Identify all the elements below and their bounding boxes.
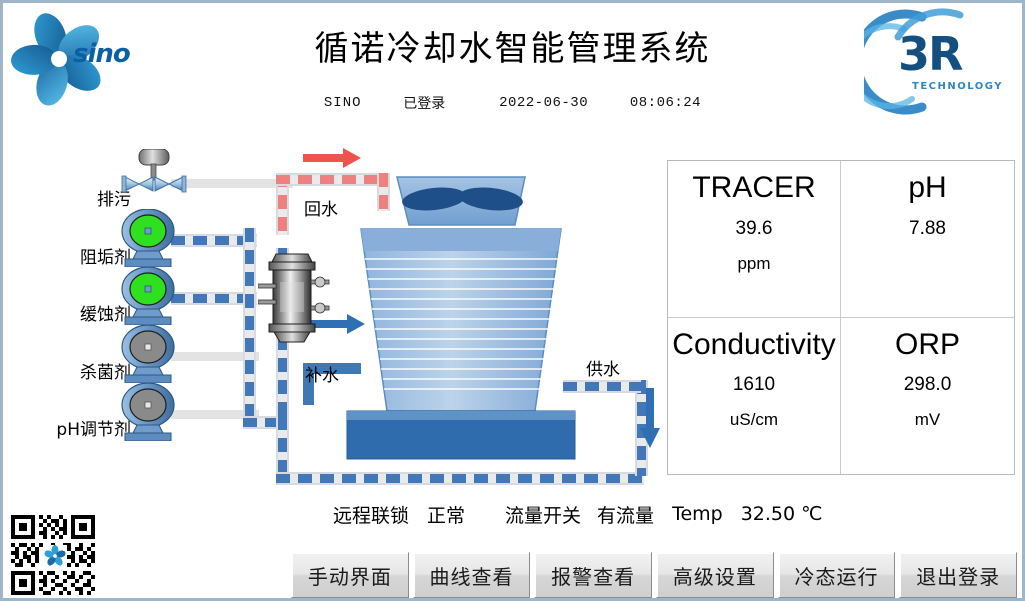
3r-logo-text: 3R [898, 27, 961, 81]
cooling-tower-icon [339, 173, 649, 463]
3r-technology-logo: 3R TECHNOLOGY [864, 7, 1014, 117]
session-user: SINO [324, 95, 362, 111]
pump-biocide[interactable] [117, 325, 179, 383]
measurement-unit: uS/cm [730, 410, 778, 430]
flow-label-makeup-water: 补水 [305, 361, 339, 386]
valve-icon [121, 149, 189, 197]
temperature-unit: ℃ [801, 503, 822, 525]
flow-switch-value: 有流量 [597, 501, 654, 528]
measurement-value: 7.88 [909, 218, 946, 240]
measurement-value: 1610 [733, 374, 775, 396]
login-status: 已登录 [403, 93, 445, 113]
interlock-label: 远程联锁 [333, 501, 409, 528]
flow-label-supply-water: 供水 [586, 355, 620, 380]
measurement-name: TRACER [692, 171, 815, 206]
measurement-value: 39.6 [736, 218, 773, 240]
measurement-card-ph: pH 7.88 [841, 161, 1014, 318]
spacer [365, 95, 399, 111]
measurement-card-tracer: TRACER 39.6 ppm [668, 161, 841, 318]
spacer [449, 95, 495, 111]
alarm-view-button[interactable]: 报警查看 [534, 552, 652, 598]
temperature-value: 32.50 [741, 503, 795, 525]
measurement-unit: mV [915, 410, 941, 430]
pump-ph-adjuster[interactable] [117, 383, 179, 441]
temperature-label: Temp [672, 503, 723, 525]
process-diagram: 回水 补水 供水 [3, 133, 663, 483]
measurement-panel: TRACER 39.6 ppm pH 7.88 Conductivity 161… [667, 160, 1015, 475]
measurement-unit: ppm [737, 254, 770, 274]
flow-switch-label: 流量开关 [505, 501, 581, 528]
button-bar: 手动界面 曲线查看 报警查看 高级设置 冷态运行 退出登录 [291, 552, 1017, 598]
measurement-name: pH [908, 171, 946, 206]
pipe-loop-bottom [276, 472, 644, 485]
header: sino 循诺冷却水智能管理系统 SINO 已登录 2022-06-30 08:… [3, 3, 1022, 131]
arrow-right-icon [303, 147, 363, 169]
3r-logo-subtitle: TECHNOLOGY [912, 81, 1003, 92]
advanced-settings-button[interactable]: 高级设置 [656, 552, 774, 598]
trend-view-button[interactable]: 曲线查看 [413, 552, 531, 598]
pipe-blowdown [171, 179, 293, 188]
pump-antiscalant[interactable] [117, 209, 179, 267]
system-time: 08:06:24 [630, 95, 701, 111]
status-row: 远程联锁 正常 流量开关 有流量 Temp 32.50 ℃ [333, 497, 1023, 531]
spacer [592, 95, 626, 111]
sensor-icon [258, 248, 334, 348]
measurement-value: 298.0 [904, 374, 952, 396]
system-date: 2022-06-30 [499, 95, 588, 111]
application-window: sino 循诺冷却水智能管理系统 SINO 已登录 2022-06-30 08:… [0, 0, 1025, 601]
pipe-makeup-down [276, 416, 289, 480]
measurement-card-conductivity: Conductivity 1610 uS/cm [668, 318, 841, 475]
pipe-manifold-vertical [243, 228, 256, 423]
logout-button[interactable]: 退出登录 [899, 552, 1017, 598]
measurement-card-orp: ORP 298.0 mV [841, 318, 1014, 475]
manual-interface-button[interactable]: 手动界面 [291, 552, 409, 598]
flow-label-return-water: 回水 [304, 195, 338, 220]
cold-start-button[interactable]: 冷态运行 [778, 552, 896, 598]
qr-code-graphic [7, 509, 103, 601]
pump-inhibitor[interactable] [117, 267, 179, 325]
qr-code-icon [7, 509, 103, 601]
interlock-value: 正常 [427, 501, 465, 528]
measurement-name: ORP [895, 328, 960, 363]
measurement-name: Conductivity [672, 328, 835, 363]
